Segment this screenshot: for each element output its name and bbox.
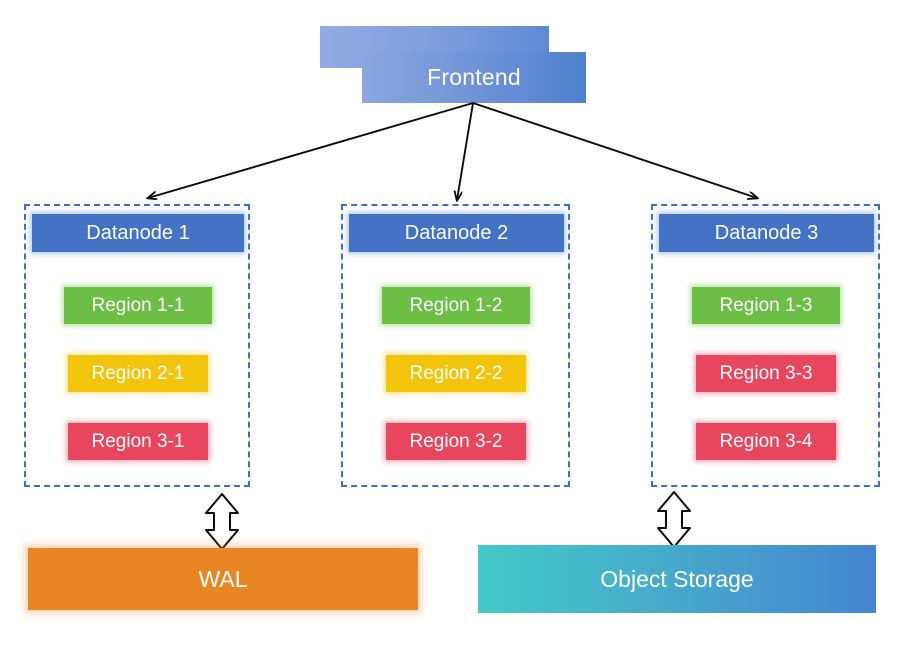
region-3-2[interactable]: Region 3-2 xyxy=(386,423,526,460)
edge-frontend-datanode-1 xyxy=(148,103,473,198)
region-3-1-label: Region 3-1 xyxy=(92,431,185,453)
edge-frontend-datanode-3 xyxy=(473,103,757,198)
frontend-label: Frontend xyxy=(427,64,521,91)
region-2-2[interactable]: Region 2-2 xyxy=(386,355,526,392)
region-1-3[interactable]: Region 1-3 xyxy=(692,287,840,324)
region-3-4[interactable]: Region 3-4 xyxy=(696,423,836,460)
datanode-3-container[interactable]: Datanode 3 Region 1-3 Region 3-3 Region … xyxy=(651,204,880,487)
region-1-3-label: Region 1-3 xyxy=(720,295,813,317)
object-storage-node[interactable]: Object Storage xyxy=(478,545,876,613)
region-2-1[interactable]: Region 2-1 xyxy=(68,355,208,392)
architecture-diagram: Frontend Datanode 1 Region 1-1 Region 2-… xyxy=(0,0,906,646)
region-3-2-label: Region 3-2 xyxy=(410,431,503,453)
datanode-2-label: Datanode 2 xyxy=(405,222,508,245)
frontend-node[interactable]: Frontend xyxy=(362,52,586,103)
region-3-3-label: Region 3-3 xyxy=(720,363,813,385)
datanode-1-label: Datanode 1 xyxy=(86,222,189,245)
region-1-1-label: Region 1-1 xyxy=(92,295,185,317)
region-1-2-label: Region 1-2 xyxy=(410,295,503,317)
region-3-4-label: Region 3-4 xyxy=(720,431,813,453)
region-1-1[interactable]: Region 1-1 xyxy=(64,287,212,324)
region-3-3[interactable]: Region 3-3 xyxy=(696,355,836,392)
region-2-1-label: Region 2-1 xyxy=(92,363,185,385)
region-1-2[interactable]: Region 1-2 xyxy=(382,287,530,324)
datanode-3-header[interactable]: Datanode 3 xyxy=(659,214,874,252)
bidirectional-arrow-object-storage xyxy=(658,492,690,547)
edge-frontend-datanode-2 xyxy=(457,103,473,200)
datanode-3-label: Datanode 3 xyxy=(715,222,818,245)
datanode-2-header[interactable]: Datanode 2 xyxy=(349,214,564,252)
wal-label: WAL xyxy=(199,566,248,593)
object-storage-label: Object Storage xyxy=(600,566,753,593)
datanode-2-container[interactable]: Datanode 2 Region 1-2 Region 2-2 Region … xyxy=(341,204,570,487)
wal-node[interactable]: WAL xyxy=(28,548,418,610)
datanode-1-header[interactable]: Datanode 1 xyxy=(32,214,244,252)
datanode-1-container[interactable]: Datanode 1 Region 1-1 Region 2-1 Region … xyxy=(24,204,250,487)
region-3-1[interactable]: Region 3-1 xyxy=(68,423,208,460)
bidirectional-arrow-wal xyxy=(206,494,238,549)
region-2-2-label: Region 2-2 xyxy=(410,363,503,385)
